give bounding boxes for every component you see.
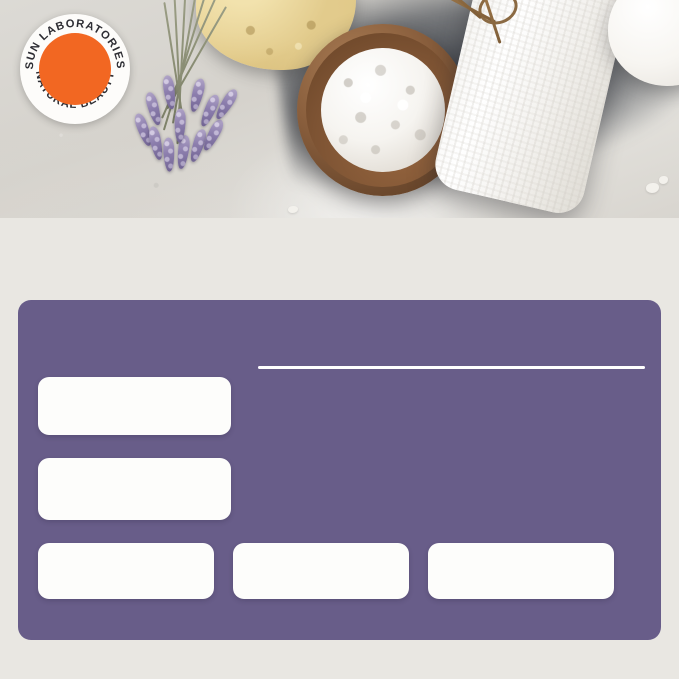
panel-divider	[258, 366, 645, 369]
brand-badge: SUN LABORATORIES · NATURAL BEAUTY ·	[20, 14, 130, 124]
feature-card-cruelty-free	[38, 543, 214, 599]
feature-card-paraben-free	[233, 543, 409, 599]
lavender-sprigs-object	[110, 0, 320, 203]
feature-card-absorbs-instantly	[38, 377, 231, 435]
feature-card-natural-looking-bronze-finish	[38, 458, 231, 520]
product-infographic: SUN LABORATORIES · NATURAL BEAUTY ·	[0, 0, 679, 679]
badge-inner-circle	[39, 33, 111, 105]
bath-salt-crystals	[321, 48, 445, 172]
feature-card-restores-dry-skin	[428, 543, 614, 599]
